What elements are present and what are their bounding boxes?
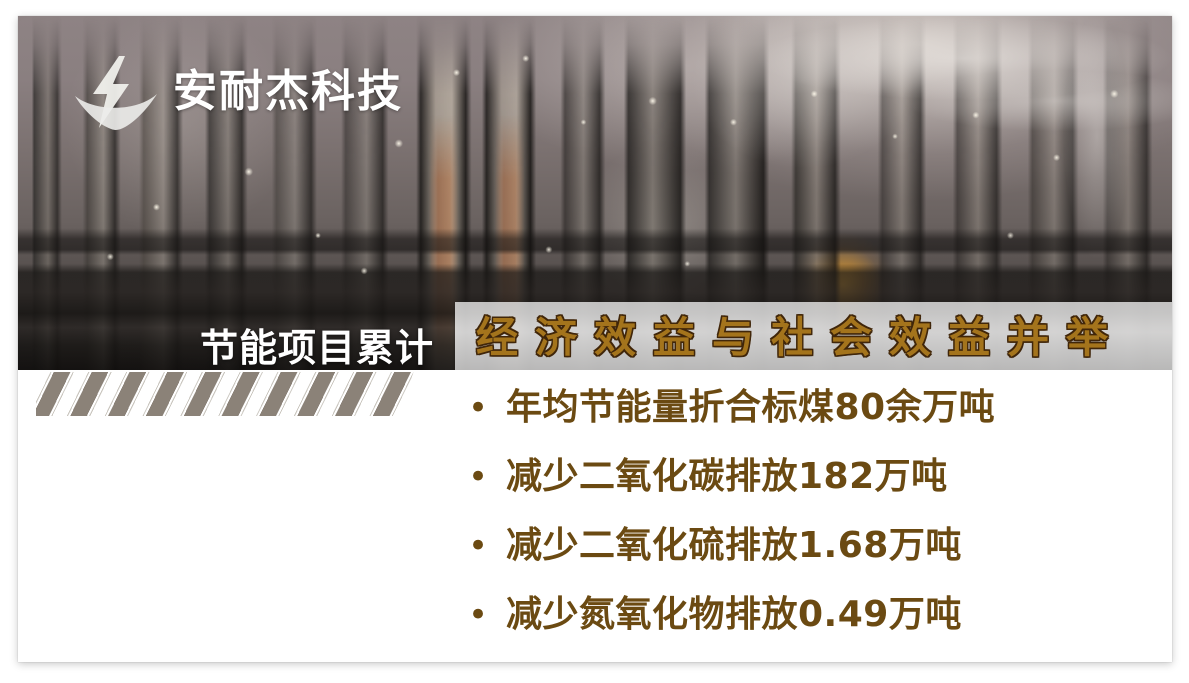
list-item-label: 减少二氧化碳排放182万吨 — [506, 459, 948, 495]
list-item: • 年均节能量折合标煤80余万吨 — [450, 390, 1150, 459]
page-title: 经济效益与社会效益并举 — [476, 310, 1172, 366]
list-item-label: 减少二氧化硫排放1.68万吨 — [506, 528, 962, 564]
list-item: • 减少二氧化碳排放182万吨 — [450, 459, 1150, 528]
presentation-slide: 安耐杰科技 节能项目累计 经济效益与社会效益并举 • 年均节能量折合标煤80余万… — [18, 16, 1172, 662]
brand-name: 安耐杰科技 — [173, 70, 403, 114]
screenshot-root: 安耐杰科技 节能项目累计 经济效益与社会效益并举 • 年均节能量折合标煤80余万… — [0, 0, 1189, 683]
lightning-bolt-swoosh-icon — [73, 54, 159, 130]
brand-logo: 安耐杰科技 — [73, 54, 403, 130]
bullet-marker-icon: • — [450, 529, 506, 563]
list-item-label: 年均节能量折合标煤80余万吨 — [506, 390, 995, 426]
bullet-marker-icon: • — [450, 460, 506, 494]
bullet-list: • 年均节能量折合标煤80余万吨 • 减少二氧化碳排放182万吨 • 减少二氧化… — [450, 390, 1150, 662]
list-item: • 减少二氧化硫排放1.68万吨 — [450, 528, 1150, 597]
list-item-label: 减少氮氧化物排放0.49万吨 — [506, 597, 962, 633]
bullet-marker-icon: • — [450, 391, 506, 425]
diagonal-hatch-stripes — [36, 372, 446, 416]
bullet-marker-icon: • — [450, 598, 506, 632]
slide-kicker: 节能项目累计 — [200, 329, 434, 367]
hatch-pattern — [36, 372, 446, 416]
list-item: • 减少氮氧化物排放0.49万吨 — [450, 597, 1150, 662]
